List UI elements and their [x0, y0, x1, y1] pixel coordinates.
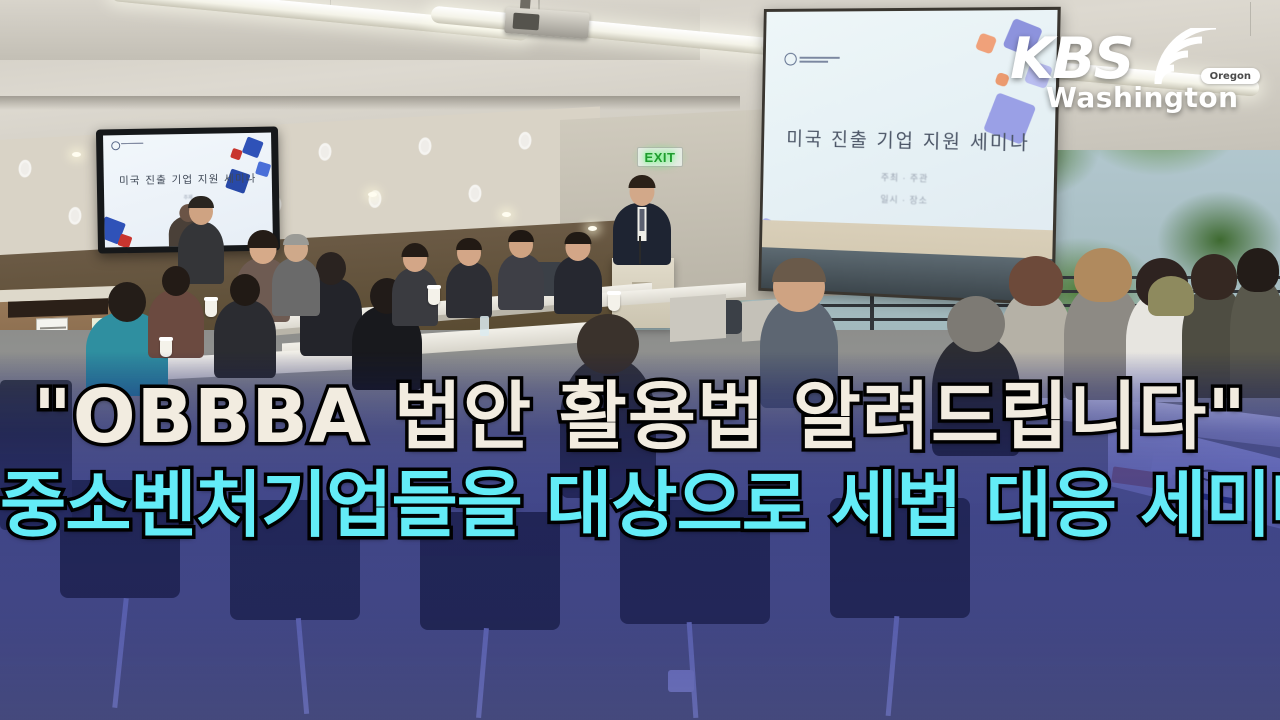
coffee-cup — [608, 294, 620, 311]
channel-logo-region: Washington — [1046, 81, 1239, 114]
subtitle-block: "OBBBA 법안 활용법 알려드립니다" 중소벤처기업들을 대상으로 세법 대… — [0, 380, 1280, 543]
attendee-with-hat — [1148, 276, 1194, 316]
channel-logo-badge: Oregon — [1201, 68, 1260, 84]
speaker-at-podium — [613, 203, 671, 265]
folding-table-stack — [670, 294, 726, 342]
broadcast-frame: EXIT 미국 진출 기업 지원 세미나 주최 · 주관 일시 · 장소 미국 … — [0, 0, 1280, 720]
projection-screen-subtitle-1: 주최 · 주관 — [763, 167, 1054, 188]
coffee-cup — [205, 300, 217, 317]
government-emblem-icon — [784, 55, 839, 64]
attendee — [272, 258, 320, 316]
channel-logo: KBS Washington Oregon — [1010, 26, 1262, 122]
coffee-cup — [428, 288, 440, 305]
attendee — [498, 254, 544, 310]
exit-sign-label: EXIT — [645, 150, 676, 165]
government-emblem-icon — [111, 142, 143, 149]
exit-sign: EXIT — [637, 147, 683, 167]
water-bottle — [480, 316, 489, 336]
attendee — [554, 256, 602, 314]
subtitle-line-1: "OBBBA 법안 활용법 알려드립니다" — [0, 380, 1280, 455]
tv-slide-line-1: 주제 — [104, 193, 272, 203]
attendee — [148, 290, 204, 358]
tv-slide-title: 미국 진출 기업 지원 세미나 — [104, 171, 272, 189]
projection-screen-subtitle-2: 일시 · 장소 — [763, 189, 1054, 211]
attendee — [446, 262, 492, 318]
projection-screen-title: 미국 진출 기업 지원 세미나 — [764, 124, 1055, 156]
ceiling-shadow — [0, 96, 740, 110]
podium-microphone-icon — [639, 236, 641, 264]
subtitle-line-2: 중소벤처기업들을 대상으로 세법 대응 세미나 개최 — [0, 469, 1280, 542]
